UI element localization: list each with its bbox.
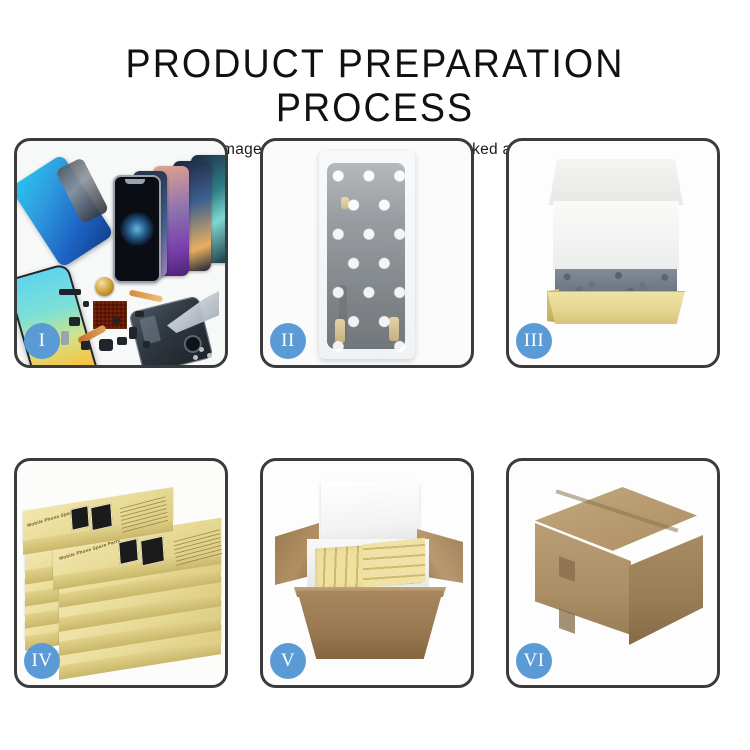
process-step-panel-5[interactable]: V bbox=[260, 458, 474, 688]
yellow-box-stack-icon: Mobile Phone Spare Parts Mobile Phone Sp… bbox=[23, 485, 223, 667]
page-title: PRODUCT PREPARATION PROCESS bbox=[23, 0, 728, 130]
step-badge-6: VI bbox=[516, 643, 552, 679]
step-badge-5: V bbox=[270, 643, 306, 679]
screw-icon bbox=[207, 353, 212, 358]
process-step-panel-1[interactable]: I bbox=[14, 138, 228, 368]
yellow-boxes-inside-icon bbox=[363, 538, 425, 589]
white-foam-icon bbox=[553, 201, 679, 269]
process-step-panel-2[interactable]: II bbox=[260, 138, 474, 368]
foam-box-lid-icon bbox=[321, 481, 419, 543]
step-badge-3: III bbox=[516, 323, 552, 359]
screw-icon bbox=[199, 347, 204, 352]
foam-lid-icon bbox=[549, 159, 683, 205]
step-badge-4: IV bbox=[24, 643, 60, 679]
phone-display-fan-icon bbox=[113, 155, 225, 285]
bubble-wrap-icon bbox=[319, 151, 415, 359]
process-step-panel-3[interactable]: III bbox=[506, 138, 720, 368]
carton-right-face-icon bbox=[629, 535, 703, 645]
screen-protector-icon bbox=[17, 154, 114, 268]
chip-grid-icon bbox=[93, 301, 127, 329]
header: PRODUCT PREPARATION PROCESS All products… bbox=[0, 0, 750, 160]
flex-cable-icon bbox=[129, 290, 164, 303]
screw-icon bbox=[193, 355, 198, 360]
carton-front-icon bbox=[291, 591, 449, 659]
product-preparation-infographic: PRODUCT PREPARATION PROCESS All products… bbox=[0, 0, 750, 750]
step-badge-1: I bbox=[24, 323, 60, 359]
battery-connector-icon bbox=[59, 289, 81, 295]
copper-coil-icon bbox=[95, 277, 114, 296]
step-badge-2: II bbox=[270, 323, 306, 359]
yellow-box-front-icon bbox=[547, 291, 685, 324]
process-step-grid: I II III bbox=[14, 138, 736, 688]
process-step-panel-4[interactable]: Mobile Phone Spare Parts Mobile Phone Sp… bbox=[14, 458, 228, 688]
process-step-panel-6[interactable]: VI bbox=[506, 458, 720, 688]
